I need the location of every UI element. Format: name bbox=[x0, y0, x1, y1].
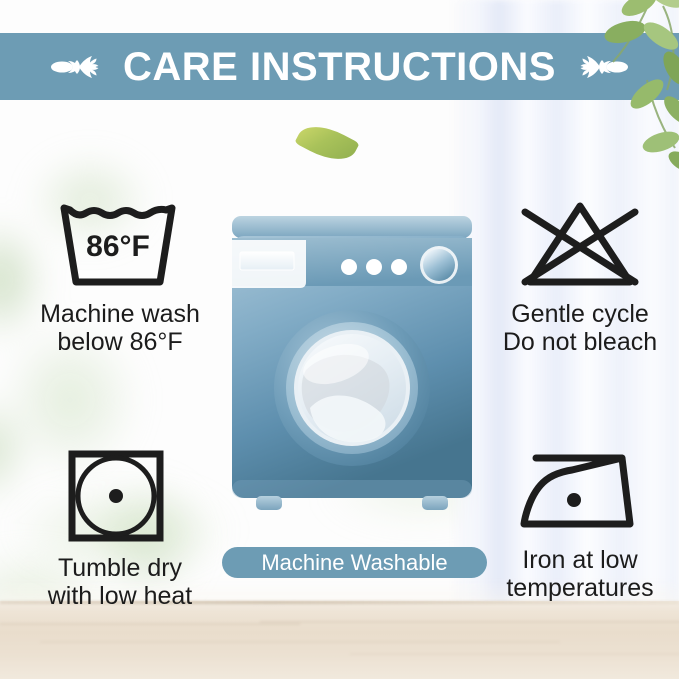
fleur-de-lis-icon-left bbox=[51, 45, 107, 89]
washing-machine-illustration bbox=[228, 212, 476, 532]
wash-temperature-label: 86°F bbox=[86, 230, 150, 263]
triangle-crossed-out-icon bbox=[505, 196, 655, 292]
indicator-dot-1 bbox=[341, 259, 357, 275]
background-wood-surface bbox=[0, 601, 679, 679]
machine-foot-left bbox=[256, 496, 282, 510]
indicator-dot-2 bbox=[366, 259, 382, 275]
fleur-de-lis-icon-right bbox=[572, 45, 628, 89]
tumble-dry-square-icon bbox=[60, 446, 180, 546]
banner-title: CARE INSTRUCTIONS bbox=[123, 47, 556, 87]
care-instructions-graphic: CARE INSTRUCTIONS bbox=[0, 0, 679, 679]
iron-icon bbox=[510, 446, 650, 538]
care-item-gentle-cycle-no-bleach: Gentle cycle Do not bleach bbox=[455, 196, 679, 356]
care-item-machine-wash: 86°F Machine wash below 86°F bbox=[0, 196, 245, 356]
banner: CARE INSTRUCTIONS bbox=[0, 33, 679, 100]
care-caption-gentle-cycle-no-bleach: Gentle cycle Do not bleach bbox=[503, 300, 657, 356]
care-caption-tumble-dry: Tumble dry with low heat bbox=[48, 554, 193, 610]
machine-foot-right bbox=[422, 496, 448, 510]
care-caption-iron: Iron at low temperatures bbox=[506, 546, 653, 602]
machine-washable-badge: Machine Washable bbox=[222, 547, 487, 578]
indicator-dot-3 bbox=[391, 259, 407, 275]
care-item-tumble-dry: Tumble dry with low heat bbox=[0, 446, 245, 610]
care-item-iron: Iron at low temperatures bbox=[455, 446, 679, 602]
machine-washable-badge-label: Machine Washable bbox=[261, 552, 447, 574]
care-caption-machine-wash: Machine wash below 86°F bbox=[40, 300, 200, 356]
wash-tub-icon: 86°F bbox=[50, 196, 190, 292]
